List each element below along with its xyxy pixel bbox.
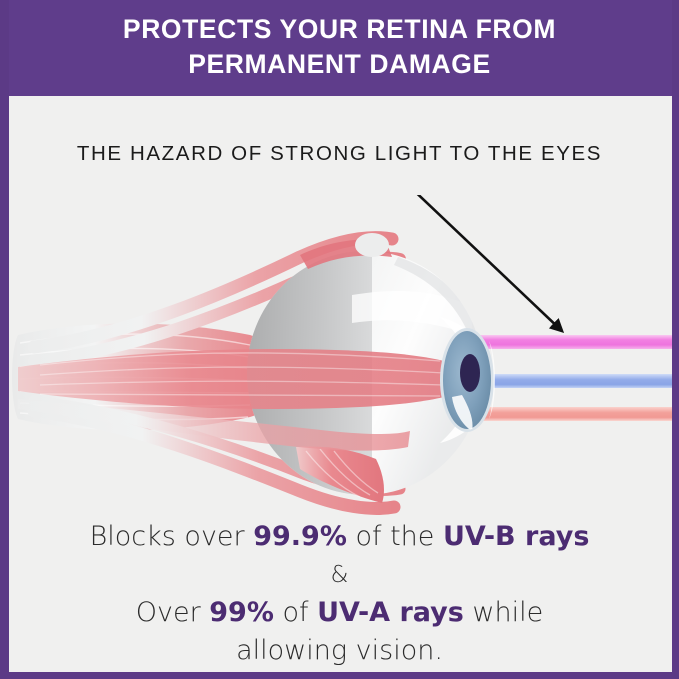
claim-line-uva: Over 99% of UV-A rays while <box>0 594 679 632</box>
claim-uva-suffix: while <box>464 597 543 628</box>
pupil <box>460 354 480 392</box>
claim-ampersand: & <box>0 556 679 594</box>
border-right <box>672 0 679 679</box>
claim-uvb-prefix: Blocks over <box>90 521 254 552</box>
border-bottom <box>0 672 679 679</box>
border-left <box>0 0 9 679</box>
uv-protection-claims: Blocks over 99.9% of the UV-B rays & Ove… <box>0 518 679 670</box>
header-band: PROTECTS YOUR RETINA FROM PERMANENT DAMA… <box>0 0 679 96</box>
muscle-tendon-node <box>355 233 389 257</box>
claim-uva-prefix: Over <box>136 597 210 628</box>
claim-uva-middle: of <box>274 597 317 628</box>
illustration-caption: THE HAZARD OF STRONG LIGHT TO THE EYES <box>0 142 679 166</box>
claim-uvb-rays: UV-B rays <box>443 521 589 552</box>
light-beams <box>468 335 679 421</box>
claim-line-vision: allowing vision. <box>0 632 679 670</box>
uv-b-beam <box>468 335 679 349</box>
claim-uva-percent: 99% <box>209 597 274 628</box>
uv-a-beam <box>468 407 679 421</box>
claim-uva-rays: UV-A rays <box>317 597 464 628</box>
page-title: PROTECTS YOUR RETINA FROM PERMANENT DAMA… <box>0 12 679 82</box>
infographic-root: PROTECTS YOUR RETINA FROM PERMANENT DAMA… <box>0 0 679 679</box>
eye-anatomy-illustration <box>0 195 679 525</box>
claim-uvb-percent: 99.9% <box>253 521 347 552</box>
claim-uvb-middle: of the <box>347 521 443 552</box>
visible-light-beam <box>468 374 679 388</box>
